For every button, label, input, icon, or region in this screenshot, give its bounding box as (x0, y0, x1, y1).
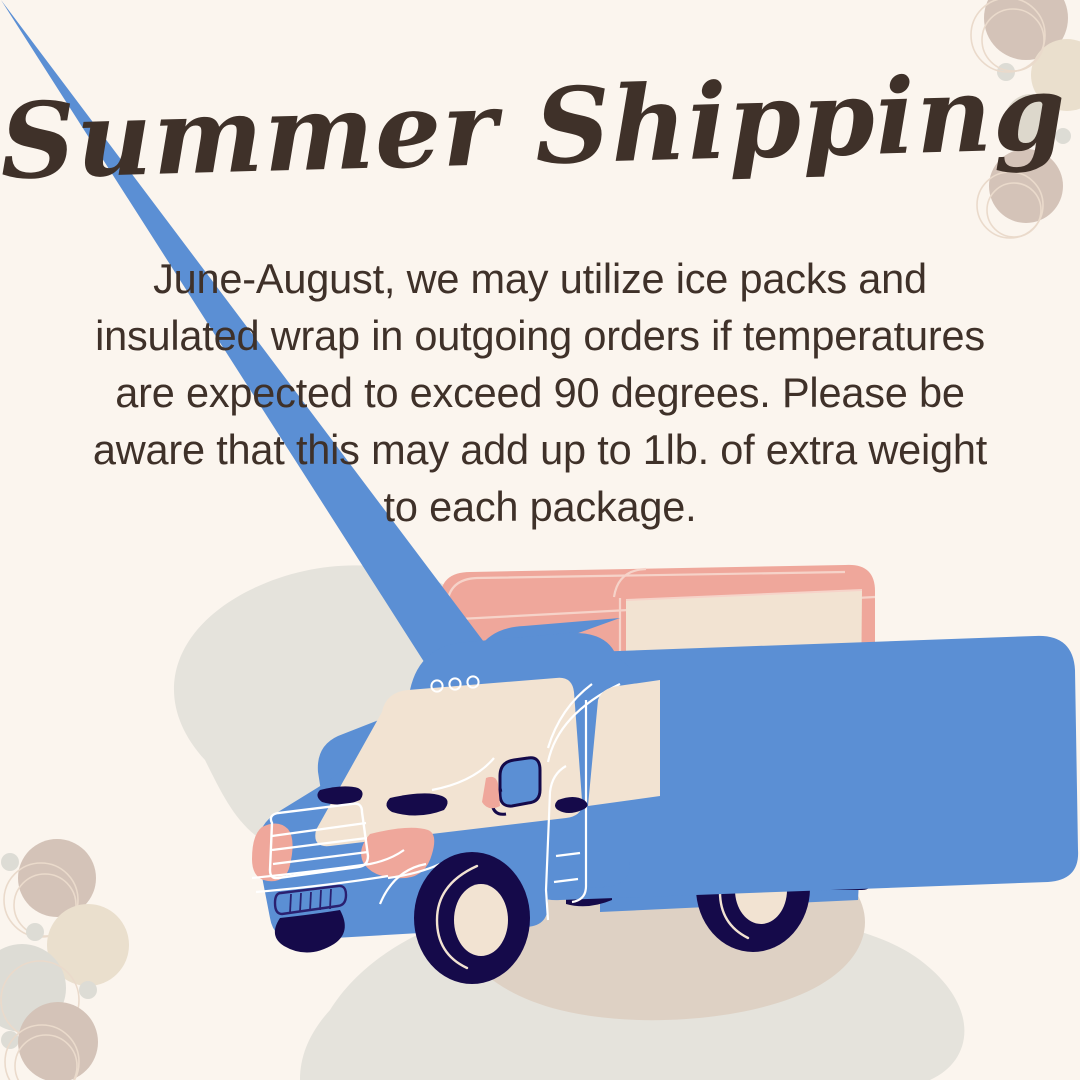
side-mirror (500, 758, 540, 806)
delivery-truck-illustration (0, 0, 1080, 1080)
front-wheel (414, 852, 530, 984)
shipping-info-poster: Summer Shipping Info June-August, we may… (0, 0, 1080, 1080)
cab-body (1, 0, 490, 690)
side-window (588, 680, 660, 806)
